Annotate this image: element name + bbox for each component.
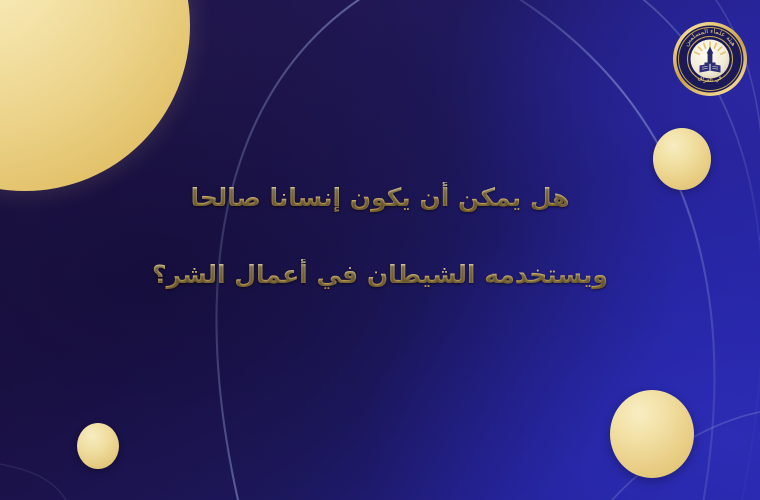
institution-emblem-logo[interactable]: هيئة علماء المسلمين في العراق xyxy=(671,20,749,98)
question-line-2: ويستخدمه الشيطان في أعمال الشر؟ xyxy=(0,259,760,290)
slide-canvas: هيئة علماء المسلمين في العراق هل يمكن أن… xyxy=(0,0,760,500)
question-text-block: هل يمكن أن يكون إنسانا صالحا ويستخدمه ال… xyxy=(0,182,760,291)
gold-circle-bottom-right xyxy=(610,390,694,478)
gold-circle-bottom-left xyxy=(77,423,119,469)
gold-circle-right xyxy=(653,128,711,190)
question-line-1: هل يمكن أن يكون إنسانا صالحا xyxy=(0,182,760,213)
